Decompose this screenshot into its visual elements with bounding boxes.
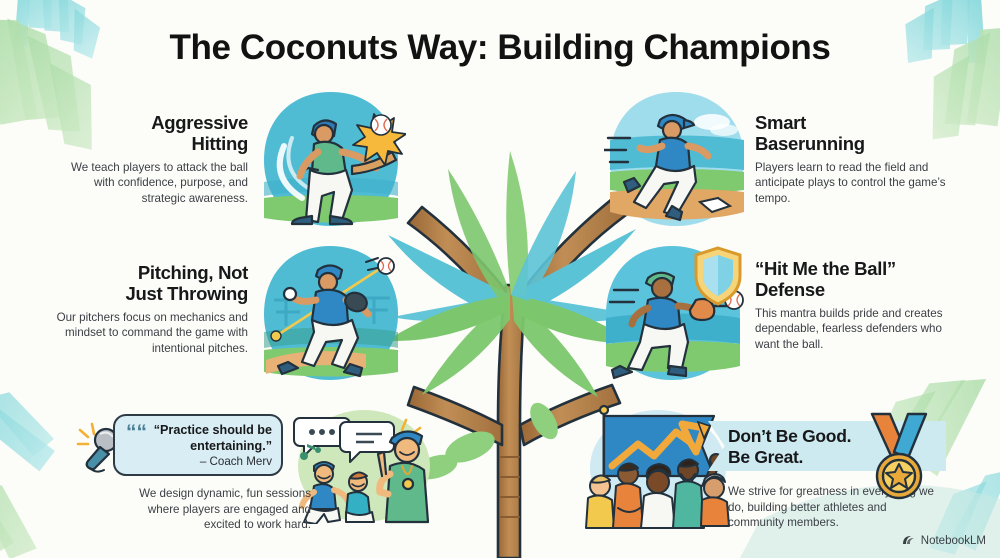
block-heading: Smart Baserunning bbox=[755, 112, 950, 155]
block-heading: Aggressive Hitting bbox=[58, 112, 248, 155]
infographic-canvas: The Coconuts Way: Building Champions bbox=[0, 0, 1000, 558]
block-heading: Pitching, Not Just Throwing bbox=[38, 262, 248, 305]
pitcher-throwing-icon bbox=[256, 240, 408, 388]
runner-sprinting-icon bbox=[604, 88, 754, 234]
block-hit-me-the-ball-defense: “Hit Me the Ball” Defense This mantra bu… bbox=[755, 258, 955, 353]
quote-attribution: – Coach Merv bbox=[125, 455, 272, 468]
block-aggressive-hitting: Aggressive Hitting We teach players to a… bbox=[58, 112, 248, 207]
notebooklm-spark-icon bbox=[901, 533, 916, 548]
fielder-shield-icon bbox=[598, 240, 756, 388]
block-heading: “Hit Me the Ball” Defense bbox=[755, 258, 955, 301]
notebooklm-watermark: NotebookLM bbox=[901, 533, 986, 548]
batter-swinging-icon bbox=[256, 86, 406, 234]
block-body: Players learn to read the field and anti… bbox=[755, 160, 950, 207]
block-body: This mantra builds pride and creates dep… bbox=[755, 306, 955, 353]
block-smart-baserunning: Smart Baserunning Players learn to read … bbox=[755, 112, 950, 207]
coach-quote-group: ““ “Practice should be entertaining.” – … bbox=[78, 414, 283, 476]
page-title: The Coconuts Way: Building Champions bbox=[0, 28, 1000, 68]
quote-mark-icon: ““ bbox=[126, 422, 147, 443]
quote-body: We design dynamic, fun sessions where pl… bbox=[126, 486, 311, 533]
watermark-label: NotebookLM bbox=[921, 535, 986, 547]
quote-bubble: ““ “Practice should be entertaining.” – … bbox=[113, 414, 283, 476]
quote-text: “Practice should be entertaining.” bbox=[125, 423, 272, 454]
block-body: We teach players to attack the ball with… bbox=[58, 160, 248, 207]
block-pitching-not-just-throwing: Pitching, Not Just Throwing Our pitchers… bbox=[38, 262, 248, 357]
block-body: Our pitchers focus on mechanics and mind… bbox=[38, 310, 248, 357]
gold-medal-icon bbox=[862, 410, 934, 506]
